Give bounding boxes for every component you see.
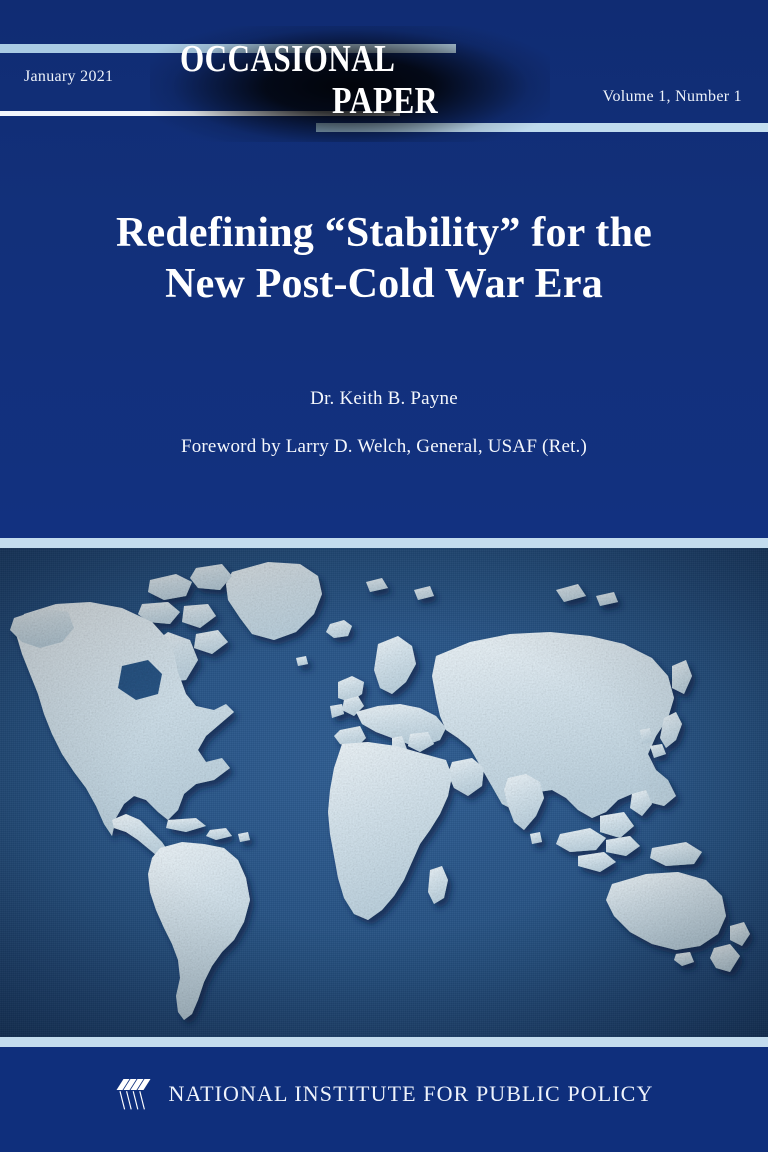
landmass-iceland bbox=[326, 620, 352, 638]
landmass-sri-lanka bbox=[530, 832, 542, 844]
landmass-kamchatka bbox=[672, 660, 692, 694]
divider-below-map bbox=[0, 1037, 768, 1047]
landmass-island-small-4 bbox=[556, 584, 586, 602]
issue-volume-number: Volume 1, Number 1 bbox=[603, 88, 742, 106]
landmass-japan-south bbox=[650, 744, 666, 758]
landmass-tasmania bbox=[674, 952, 694, 966]
landmass-south-america bbox=[148, 842, 250, 1020]
chevron-bars-logo-icon bbox=[115, 1077, 153, 1111]
landmass-arctic-islands-2 bbox=[190, 564, 232, 590]
issue-date: January 2021 bbox=[24, 68, 113, 86]
cover-header: OCCASIONAL PAPER January 2021 Volume 1, … bbox=[0, 0, 768, 540]
landmass-australia bbox=[606, 872, 726, 950]
landmass-arctic-islands-4 bbox=[182, 604, 216, 628]
masthead-word-paper: PAPER bbox=[332, 82, 438, 120]
divider-above-map bbox=[0, 538, 768, 548]
landmass-cuba bbox=[166, 818, 206, 832]
cover-footer: NATIONAL INSTITUTE FOR PUBLIC POLICY bbox=[0, 1047, 768, 1152]
landmass-new-zealand-s bbox=[710, 944, 740, 972]
landmass-caribbean-small bbox=[238, 832, 250, 842]
landmass-korea bbox=[640, 728, 652, 744]
landmass-madagascar bbox=[428, 866, 448, 904]
masthead: OCCASIONAL PAPER bbox=[150, 26, 550, 142]
landmass-new-guinea bbox=[650, 842, 702, 866]
landmass-british-isles-2 bbox=[330, 704, 344, 718]
masthead-word-occasional: OCCASIONAL bbox=[180, 40, 395, 78]
title-line-1: Redefining “Stability” for the bbox=[60, 208, 708, 259]
landmass-indonesia-3 bbox=[578, 852, 616, 872]
landmass-greenland bbox=[226, 562, 322, 640]
document-cover: OCCASIONAL PAPER January 2021 Volume 1, … bbox=[0, 0, 768, 1152]
foreword-credit: Foreword by Larry D. Welch, General, USA… bbox=[0, 436, 768, 458]
landmass-new-zealand-n bbox=[730, 922, 750, 946]
landmass-arctic-islands-1 bbox=[148, 574, 192, 600]
title-line-2: New Post-Cold War Era bbox=[60, 259, 708, 310]
organization-lockup: NATIONAL INSTITUTE FOR PUBLIC POLICY bbox=[0, 1077, 768, 1111]
landmass-island-small-5 bbox=[596, 592, 618, 606]
author-name: Dr. Keith B. Payne bbox=[0, 388, 768, 410]
landmass-india bbox=[504, 774, 544, 830]
page-title: Redefining “Stability” for the New Post-… bbox=[0, 208, 768, 310]
landmass-island-small-1 bbox=[296, 656, 308, 666]
landmass-borneo bbox=[600, 812, 634, 838]
title-block: Redefining “Stability” for the New Post-… bbox=[0, 208, 768, 310]
landmass-arctic-islands-5 bbox=[194, 630, 228, 654]
landmasses-group bbox=[10, 562, 750, 1020]
landmass-hispaniola bbox=[206, 828, 232, 840]
organization-name: NATIONAL INSTITUTE FOR PUBLIC POLICY bbox=[169, 1081, 654, 1107]
landmass-indonesia-2 bbox=[606, 836, 640, 856]
landmass-indonesia-1 bbox=[556, 828, 606, 852]
landmass-scandinavia bbox=[374, 636, 416, 694]
landmass-arabia bbox=[448, 758, 484, 796]
world-map-graphic bbox=[0, 548, 768, 1037]
landmass-island-small-3 bbox=[366, 578, 388, 592]
landmass-island-small-2 bbox=[414, 586, 434, 600]
author-block: Dr. Keith B. Payne Foreword by Larry D. … bbox=[0, 388, 768, 458]
cover-world-map bbox=[0, 548, 768, 1037]
